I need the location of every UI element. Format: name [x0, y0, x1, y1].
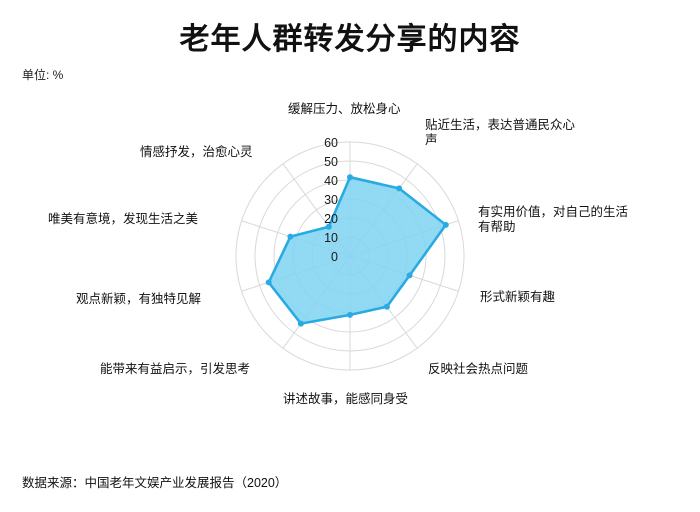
page-title: 老年人群转发分享的内容: [0, 14, 700, 58]
radar-axis-label-9: 情感抒发，治愈心灵: [140, 145, 253, 160]
source-note: 数据来源：中国老年文娱产业发展报告（2020）: [22, 472, 287, 491]
radar-axis-label-3: 形式新颖有趣: [480, 290, 555, 305]
svg-text:10: 10: [324, 231, 338, 245]
radar-series-polygon: [269, 177, 446, 323]
svg-text:20: 20: [324, 212, 338, 226]
radar-axis-label-8: 唯美有意境，发现生活之美: [48, 212, 198, 227]
svg-text:60: 60: [324, 136, 338, 150]
svg-text:30: 30: [324, 193, 338, 207]
svg-text:0: 0: [331, 250, 338, 264]
svg-text:50: 50: [324, 155, 338, 169]
radar-axis-label-4: 反映社会热点问题: [428, 362, 528, 377]
svg-text:40: 40: [324, 174, 338, 188]
radar-axis-label-1: 贴近生活，表达普通民众心 声: [425, 118, 575, 148]
radar-axis-label-7: 观点新颖，有独特见解: [76, 292, 201, 307]
unit-label: 单位: %: [22, 66, 63, 83]
radial-axis-tick-labels: 0102030405060: [324, 136, 338, 264]
radar-chart: 0102030405060 缓解压力、放松身心贴近生活，表达普通民众心 声有实用…: [0, 90, 700, 460]
radar-axis-label-0: 缓解压力、放松身心: [288, 102, 401, 117]
radar-axis-label-2: 有实用价值，对自己的生活 有帮助: [478, 205, 628, 235]
radar-axis-label-6: 能带来有益启示，引发思考: [100, 362, 250, 377]
radar-axis-label-5: 讲述故事，能感同身受: [283, 392, 408, 407]
